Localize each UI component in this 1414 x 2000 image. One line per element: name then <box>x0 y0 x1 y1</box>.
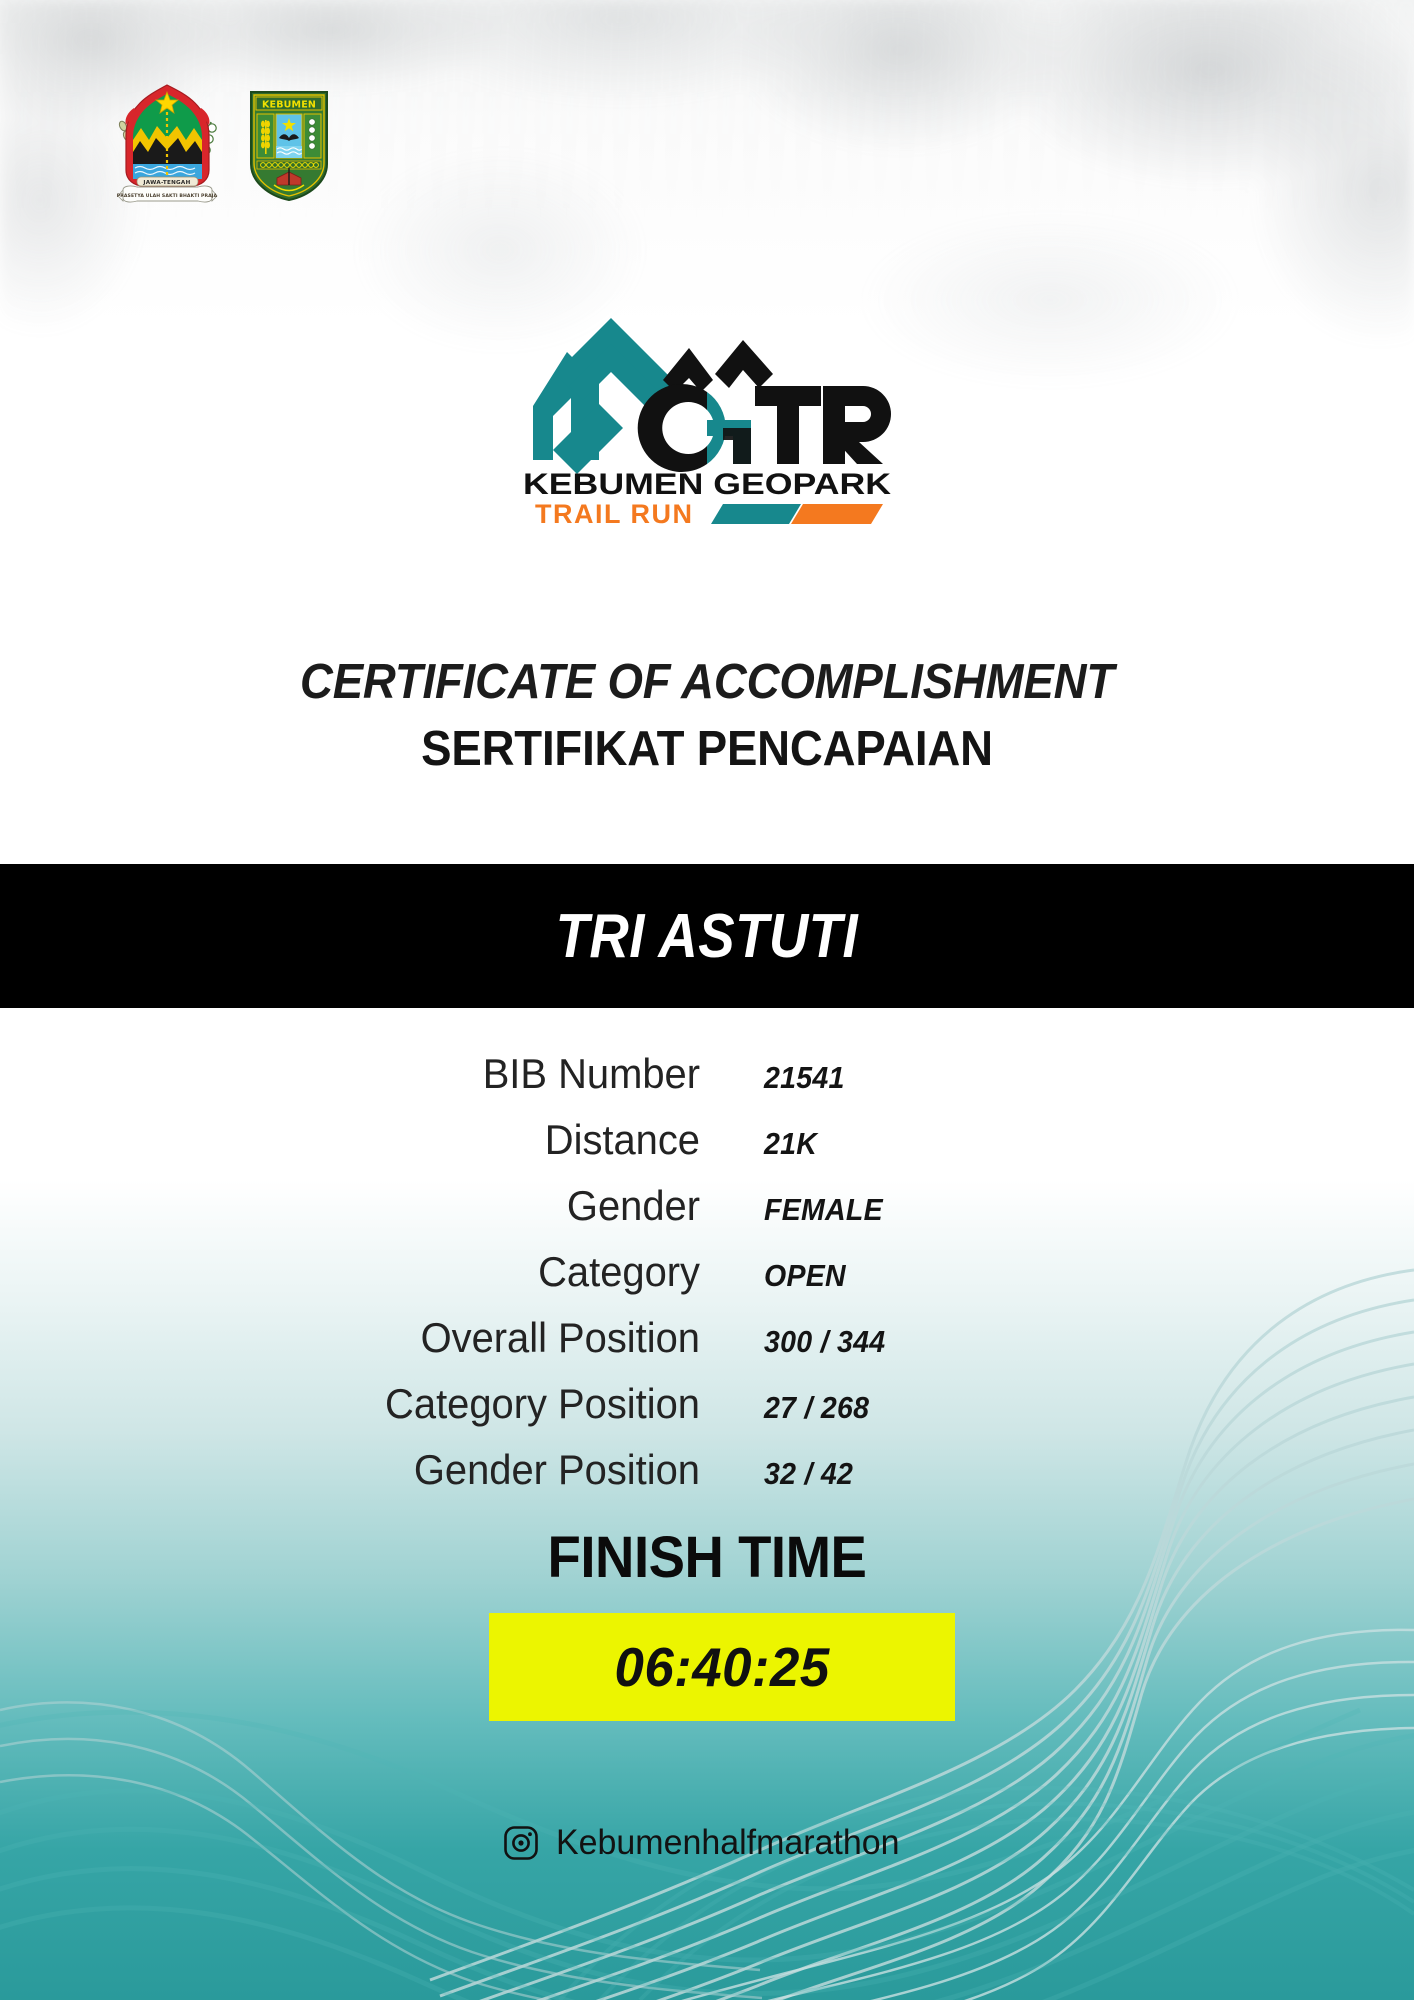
detail-value: 21541 <box>764 1060 845 1096</box>
table-row: Gender FEMALE <box>0 1182 1414 1248</box>
svg-text:TRAIL RUN: TRAIL RUN <box>535 499 694 528</box>
title-english: CERTIFICATE OF ACCOMPLISHMENT <box>49 655 1364 710</box>
event-logo: KEBUMEN GEOPARK TRAIL RUN <box>0 288 1414 528</box>
emblem-group: JAWA-TENGAH PRASETYA ULAH SAKTI BHAKTI P… <box>110 78 335 208</box>
kebumen-emblem-icon: KEBUMEN <box>243 86 335 204</box>
social-handle-text: Kebumenhalfmarathon <box>556 1823 900 1863</box>
svg-text:KEBUMEN GEOPARK: KEBUMEN GEOPARK <box>523 468 891 501</box>
detail-label: Category <box>35 1248 700 1296</box>
kgtr-logo-icon: KEBUMEN GEOPARK TRAIL RUN <box>511 288 903 528</box>
table-row: BIB Number 21541 <box>0 1050 1414 1116</box>
detail-label: Distance <box>35 1116 700 1164</box>
athlete-name-bar: TRI ASTUTI <box>0 864 1414 1008</box>
table-row: Category Position 27 / 268 <box>0 1380 1414 1446</box>
result-details-table: BIB Number 21541 Distance 21K Gender FEM… <box>0 1050 1414 1512</box>
certificate-page: JAWA-TENGAH PRASETYA ULAH SAKTI BHAKTI P… <box>0 0 1414 2000</box>
table-row: Overall Position 300 / 344 <box>0 1314 1414 1380</box>
athlete-name: TRI ASTUTI <box>556 901 858 972</box>
detail-label: Gender Position <box>35 1446 700 1494</box>
title-indonesian: SERTIFIKAT PENCAPAIAN <box>49 720 1364 779</box>
detail-label: Overall Position <box>35 1314 700 1362</box>
detail-value: 32 / 42 <box>764 1456 853 1492</box>
finish-time-value: 06:40:25 <box>614 1635 829 1699</box>
finish-time-highlight: 06:40:25 <box>489 1613 955 1721</box>
instagram-icon <box>503 1825 539 1861</box>
detail-label: BIB Number <box>35 1050 700 1098</box>
detail-value: 300 / 344 <box>764 1324 885 1360</box>
detail-value: 21K <box>764 1126 817 1162</box>
finish-time-label: FINISH TIME <box>42 1524 1371 1591</box>
table-row: Category OPEN <box>0 1248 1414 1314</box>
detail-value: 27 / 268 <box>764 1390 869 1426</box>
svg-text:KEBUMEN: KEBUMEN <box>262 100 316 111</box>
social-handle-row: Kebumenhalfmarathon <box>0 1823 1414 1863</box>
svg-text:PRASETYA ULAH SAKTI BHAKTI PRA: PRASETYA ULAH SAKTI BHAKTI PRAJA <box>117 193 218 199</box>
detail-label: Category Position <box>35 1380 700 1428</box>
svg-text:JAWA-TENGAH: JAWA-TENGAH <box>142 180 190 186</box>
detail-value: OPEN <box>764 1258 846 1294</box>
table-row: Gender Position 32 / 42 <box>0 1446 1414 1512</box>
jawa-tengah-emblem-icon: JAWA-TENGAH PRASETYA ULAH SAKTI BHAKTI P… <box>110 78 225 208</box>
detail-value: FEMALE <box>764 1192 883 1228</box>
table-row: Distance 21K <box>0 1116 1414 1182</box>
detail-label: Gender <box>35 1182 700 1230</box>
certificate-titles: CERTIFICATE OF ACCOMPLISHMENT SERTIFIKAT… <box>0 655 1414 779</box>
